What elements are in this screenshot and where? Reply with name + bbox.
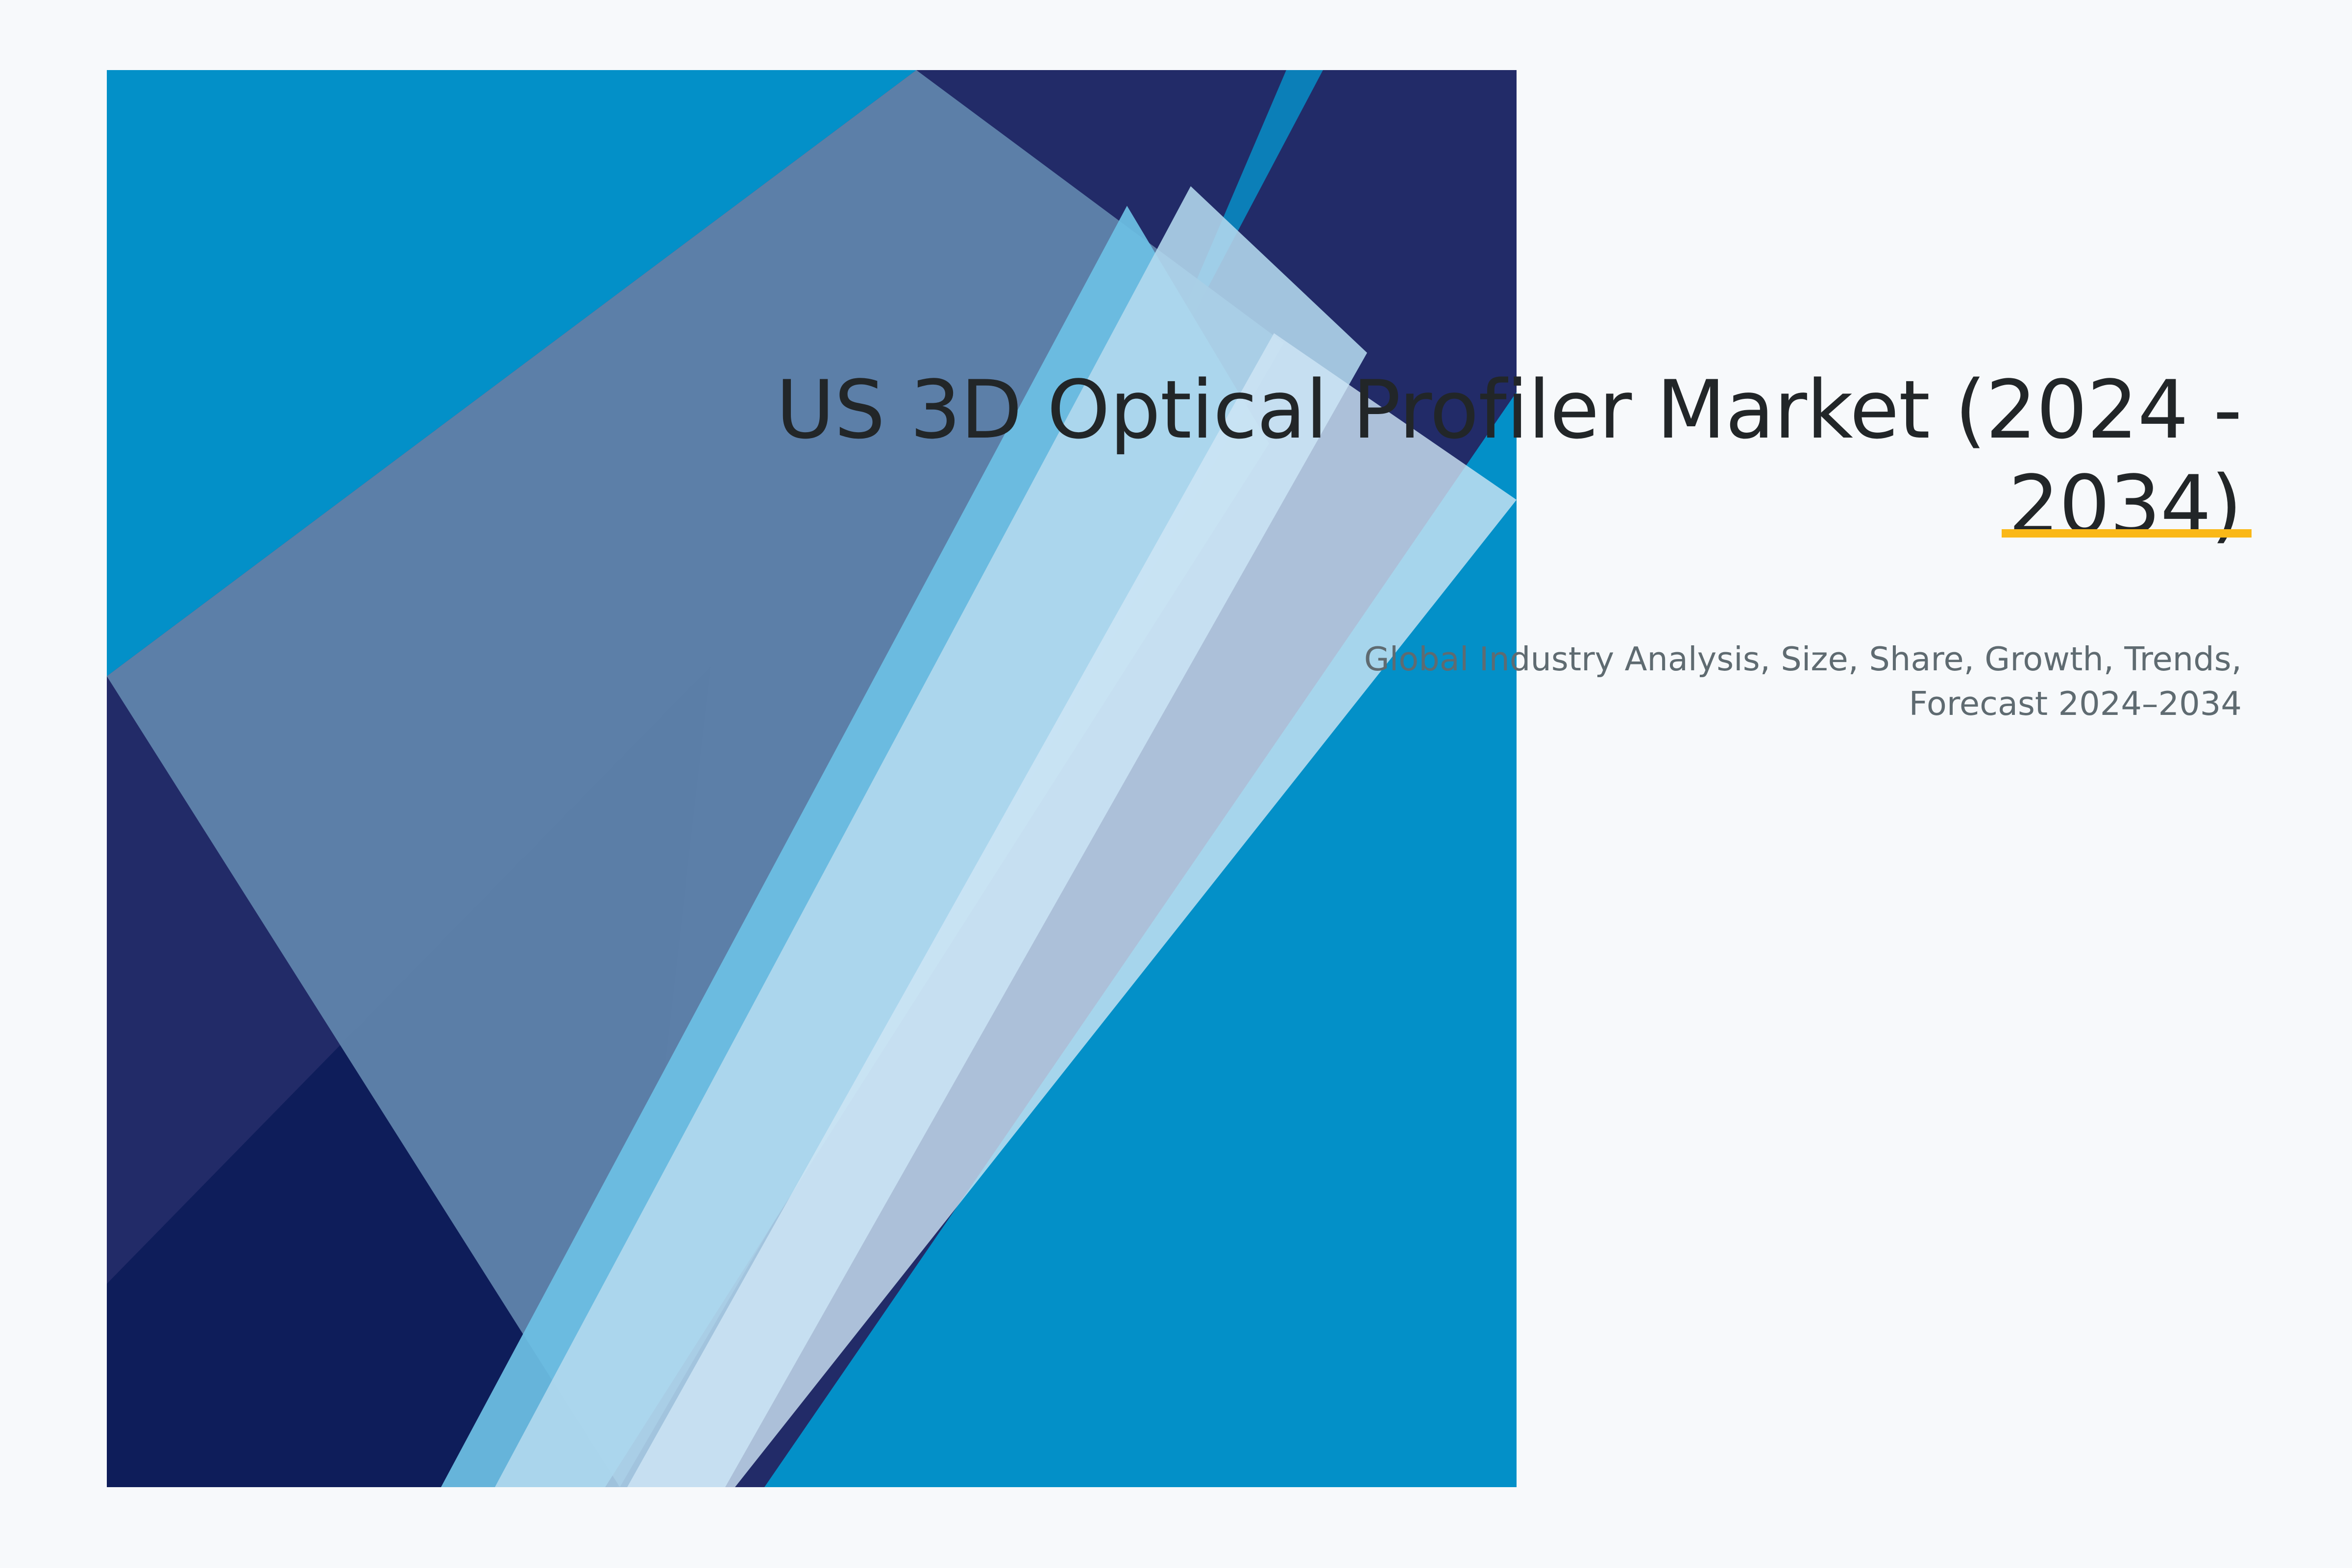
page-subtitle: Global Industry Analysis, Size, Share, G… (1323, 637, 2242, 726)
abstract-geometric-artwork (0, 0, 2352, 1568)
subtitle-container: Global Industry Analysis, Size, Share, G… (1323, 637, 2242, 726)
accent-underline (2002, 529, 2252, 538)
page-title: US 3D Optical Profiler Market (2024 - 20… (735, 363, 2242, 552)
title-container: US 3D Optical Profiler Market (2024 - 20… (735, 363, 2242, 552)
title-slide: US 3D Optical Profiler Market (2024 - 20… (0, 0, 2352, 1568)
